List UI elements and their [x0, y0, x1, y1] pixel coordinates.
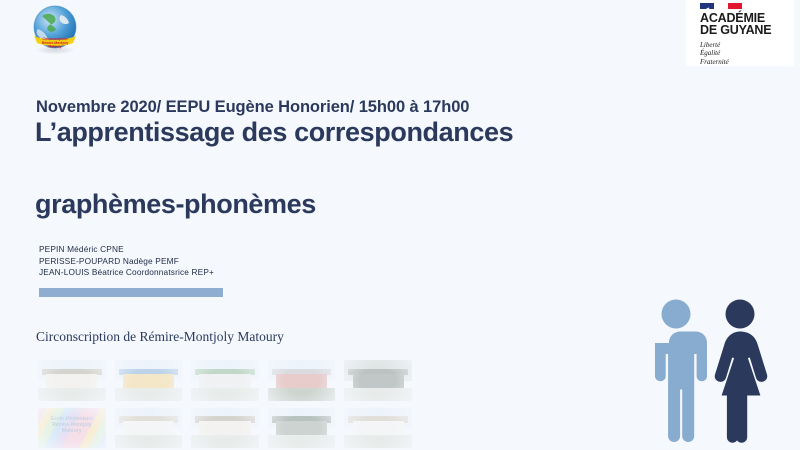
french-flag-icon — [700, 3, 742, 9]
page-title-line2: graphèmes-phonèmes — [35, 189, 316, 220]
school-building-photo — [344, 408, 412, 449]
page-title-line1: L’apprentissage des correspondances — [35, 117, 513, 148]
male-figure-icon — [655, 300, 707, 443]
school-playground-photo — [115, 360, 183, 401]
female-figure-icon — [715, 300, 768, 443]
motto-fraternite: Fraternité — [700, 58, 729, 66]
school-covered-area-photo — [268, 408, 336, 449]
school-rainbow-sign-photo: École élémentaire Rémire-Montjoly Matour… — [38, 408, 106, 449]
people-pictograms — [644, 296, 786, 444]
motto-egalite: Égalité — [700, 49, 729, 57]
presentation-slide: Circonscription Rémire-Montjoly Matoury … — [0, 0, 800, 450]
motto-liberte: Liberté — [700, 41, 729, 49]
globe-icon: Circonscription Rémire-Montjoly Matoury — [20, 3, 90, 55]
school-stairs-photo — [268, 360, 336, 401]
school-courtyard-photo — [191, 408, 259, 449]
svg-text:Matoury: Matoury — [48, 45, 61, 49]
presenter-item: PEPIN Médéric CPNE — [39, 244, 214, 256]
school-green-roof-photo — [191, 360, 259, 401]
school-red-roof-photo — [115, 408, 183, 449]
presenter-item: PERISSE-POUPARD Nadège PEMF — [39, 256, 214, 268]
school-sign-text: École élémentaire Rémire-Montjoly Matour… — [42, 416, 101, 434]
school-entrance-photo — [38, 360, 106, 401]
school-photo-grid: École élémentaire Rémire-Montjoly Matour… — [38, 360, 412, 448]
academie-logo: ACADÉMIE DE GUYANE Liberté Égalité Frate… — [686, 0, 794, 66]
academie-motto: Liberté Égalité Fraternité — [700, 41, 729, 66]
accent-divider — [39, 288, 223, 297]
presenter-item: JEAN-LOUIS Béatrice Coordonnatsrice REP+ — [39, 267, 214, 279]
academie-name-line2: DE GUYANE — [700, 24, 771, 37]
slide-subtitle-date: Novembre 2020/ EEPU Eugène Honorien/ 15h… — [36, 98, 469, 117]
presenters-list: PEPIN Médéric CPNE PERISSE-POUPARD Nadèg… — [39, 244, 214, 279]
circonscription-label: Circonscription de Rémire-Montjoly Matou… — [36, 329, 284, 345]
school-fence-photo — [344, 360, 412, 401]
